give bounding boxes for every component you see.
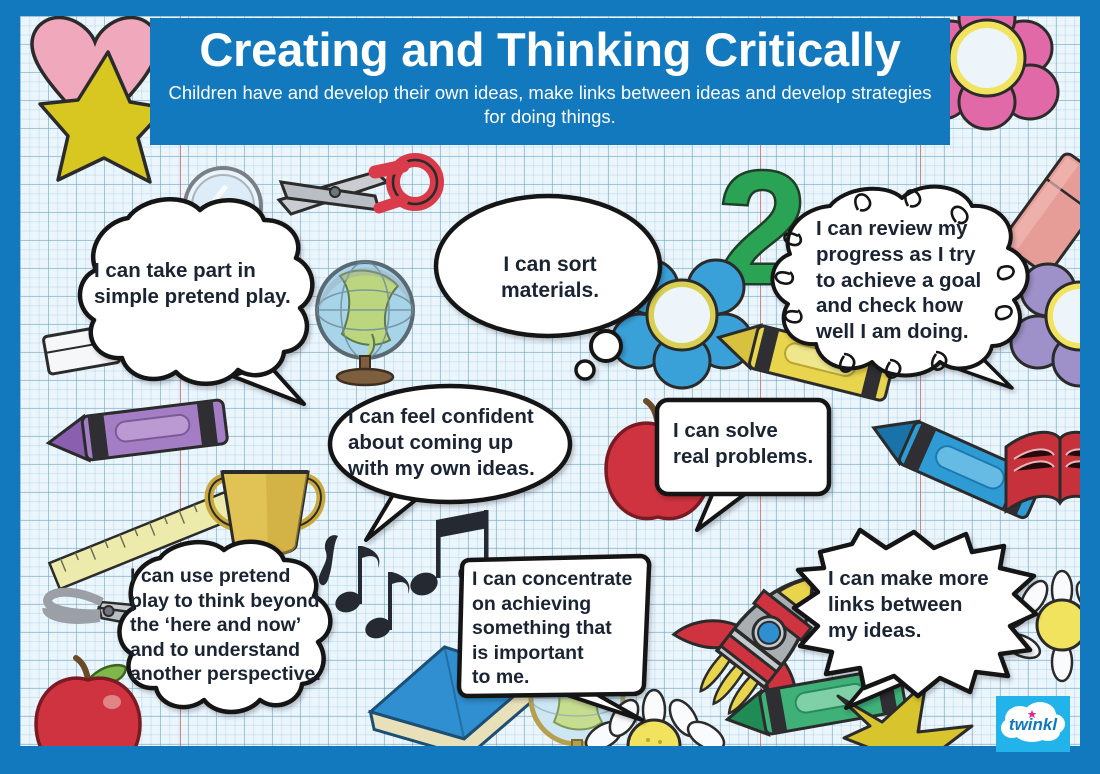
page-title: Creating and Thinking Critically <box>164 24 936 77</box>
twinkl-wordmark: twinkl <box>1009 715 1058 734</box>
statement-bubble-review-progress: I can review my progress as I try to ach… <box>758 184 1048 390</box>
statement-bubble-pretend-play-beyond: I can use pretend play to think beyond t… <box>110 540 344 730</box>
bubble-text: I can sort materials. <box>454 252 646 305</box>
bubble-text: I can concentrate on achieving something… <box>472 567 652 690</box>
statement-bubble-take-part: I can take part in simple pretend play. <box>72 196 332 408</box>
bubble-text: I can solve real problems. <box>673 418 823 470</box>
statement-bubble-concentrate: I can concentrate on achieving something… <box>456 554 654 724</box>
bubble-text: I can make more links between my ideas. <box>828 566 1010 643</box>
yellow-star-icon <box>38 44 168 184</box>
page-subtitle: Children have and develop their own idea… <box>164 81 936 130</box>
statement-bubble-make-links: I can make more links between my ideas. <box>790 528 1040 708</box>
poster-header: Creating and Thinking Critically Childre… <box>150 18 950 145</box>
red-book-icon <box>1000 421 1080 531</box>
statement-bubble-sort-materials: I can sort materials. <box>432 190 680 380</box>
bubble-text: I can take part in simple pretend play. <box>94 258 310 310</box>
twinkl-cloud-icon: twinkl <box>1000 702 1066 746</box>
bubble-text: I can feel confident about coming up wit… <box>348 404 562 481</box>
statement-bubble-solve-problems: I can solve real problems. <box>653 396 833 532</box>
poster-root: 2 <box>0 0 1100 774</box>
bubble-text: I can use pretend play to think beyond t… <box>130 564 328 687</box>
twinkl-logo: twinkl <box>996 696 1070 752</box>
bubble-text: I can review my progress as I try to ach… <box>816 216 1006 345</box>
statement-bubble-feel-confident: I can feel confident about coming up wit… <box>322 382 584 542</box>
